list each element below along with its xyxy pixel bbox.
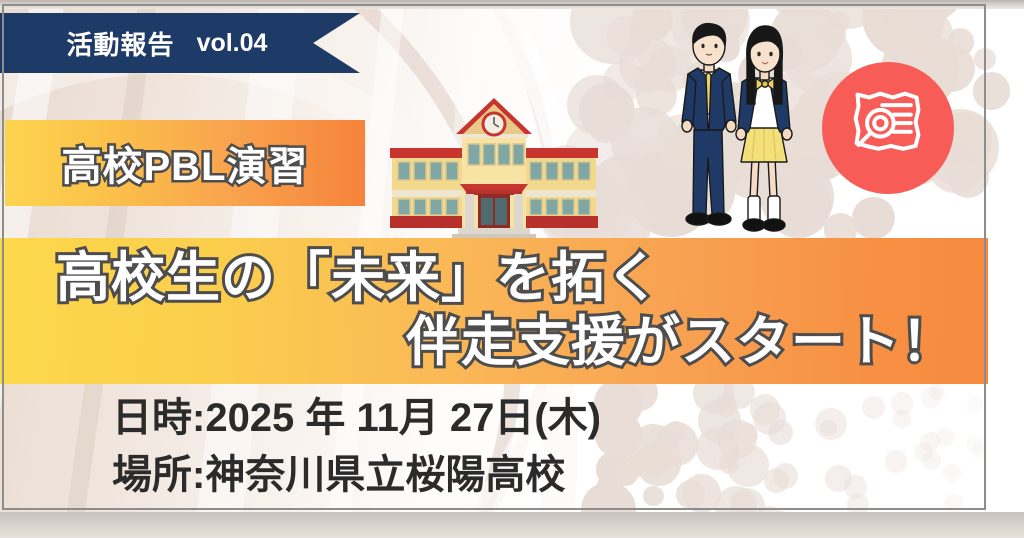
background-dot bbox=[974, 48, 996, 70]
ribbon-label: 活動報告 bbox=[67, 25, 175, 62]
headline-text-group: 高校生の「未来」を拓く 伴走支援がスタート！ bbox=[0, 238, 988, 384]
report-ribbon-text: 活動報告 vol.04 bbox=[0, 13, 360, 73]
headline-line-2: 伴走支援がスタート！ bbox=[28, 311, 960, 375]
background-dot bbox=[973, 72, 1010, 109]
two-students-illustration bbox=[660, 18, 800, 240]
event-date: 日時:2025 年 11月 27日(木) bbox=[112, 390, 872, 447]
ribbon-volume: vol.04 bbox=[197, 29, 268, 58]
headline-line-1: 高校生の「未来」を拓く bbox=[28, 247, 960, 311]
background-dot bbox=[943, 464, 961, 482]
top-edge-strip bbox=[0, 0, 1024, 9]
background-dot bbox=[944, 494, 963, 513]
background-dot bbox=[929, 384, 945, 400]
background-dot bbox=[627, 140, 661, 174]
background-dot bbox=[920, 432, 940, 452]
background-dot bbox=[967, 396, 983, 412]
school-building-illustration bbox=[386, 94, 602, 244]
bottom-edge-strip bbox=[0, 512, 1024, 538]
event-details: 日時:2025 年 11月 27日(木) 場所:神奈川県立桜陽高校 bbox=[112, 390, 872, 504]
event-location: 場所:神奈川県立桜陽高校 bbox=[112, 447, 872, 504]
background-dot bbox=[852, 197, 894, 239]
document-magnifier-icon bbox=[848, 87, 928, 170]
background-dot bbox=[953, 143, 975, 165]
status-badge bbox=[822, 62, 954, 194]
poster-canvas: 活動報告 vol.04 高校PBL演習 高校生の「未来」を拓く 伴走支援がスター… bbox=[0, 0, 1024, 538]
background-dot bbox=[885, 450, 907, 472]
pbl-tag-label: 高校PBL演習 bbox=[5, 120, 365, 206]
